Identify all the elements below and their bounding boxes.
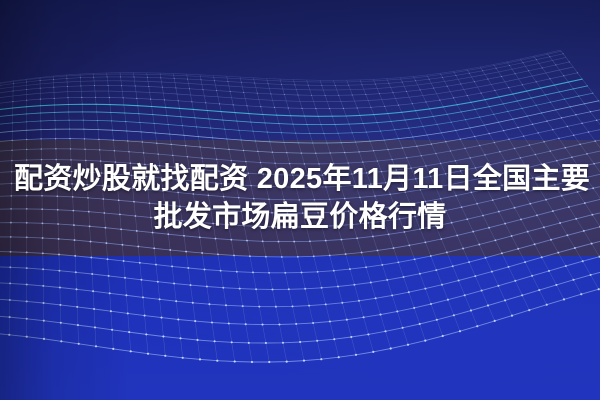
promo-banner: 配资炒股就找配资 2025年11月11日全国主要 批发市场扁豆价格行情 <box>0 0 600 400</box>
headline-line-1: 配资炒股就找配资 2025年11月11日全国主要 <box>14 160 586 198</box>
banner-headline: 配资炒股就找配资 2025年11月11日全国主要 批发市场扁豆价格行情 <box>0 160 600 236</box>
headline-line-2: 批发市场扁豆价格行情 <box>14 198 586 236</box>
